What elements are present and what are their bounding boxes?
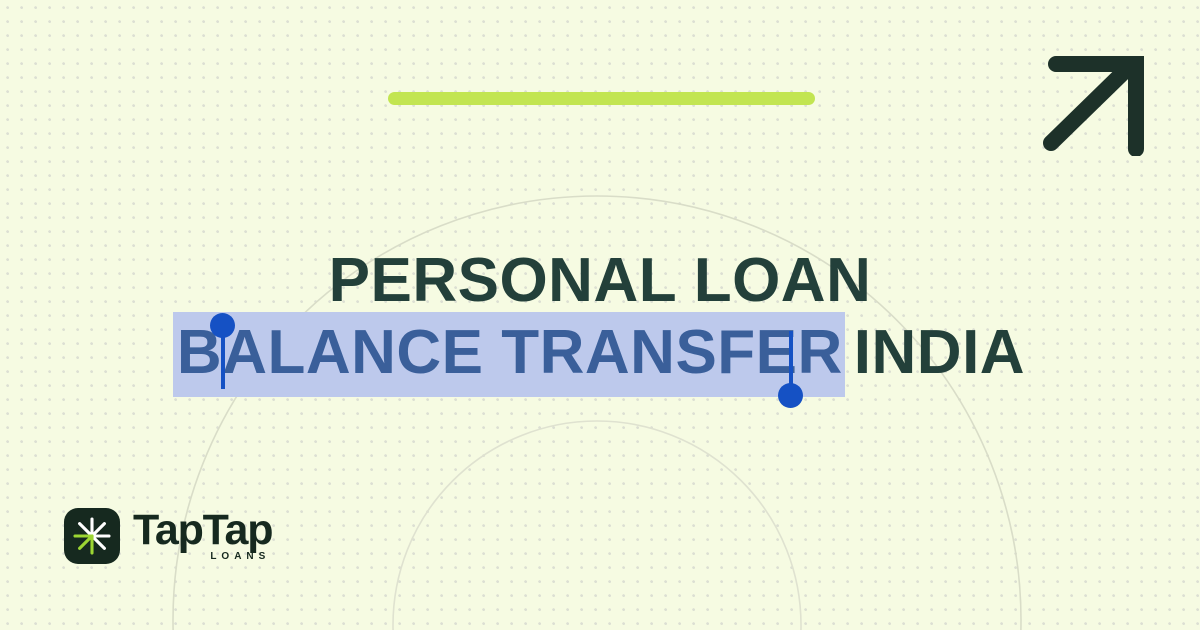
logo-subtext: LOANS: [210, 552, 270, 562]
headline-line-1: PERSONAL LOAN: [0, 250, 1200, 312]
green-accent-bar: [388, 92, 815, 105]
logo-wordmark: TapTap: [133, 510, 272, 551]
headline-block: PERSONAL LOAN BALANCE TRANSFERINDIA: [0, 250, 1200, 384]
highlighted-phrase[interactable]: BALANCE TRANSFER: [173, 312, 845, 397]
taptap-starburst-mark: [64, 508, 120, 564]
selection-end-handle-bar[interactable]: [789, 331, 793, 387]
selection-start-handle-knob[interactable]: [210, 313, 235, 338]
headline-line-2-tail: INDIA: [845, 318, 1025, 387]
headline-line-2: BALANCE TRANSFERINDIA: [0, 322, 1200, 384]
logo-text-block: TapTap LOANS: [133, 510, 272, 563]
banner-canvas: PERSONAL LOAN BALANCE TRANSFERINDIA: [0, 0, 1200, 630]
selection-end-handle-knob[interactable]: [778, 383, 803, 408]
taptap-loans-logo[interactable]: TapTap LOANS: [64, 508, 272, 564]
starburst-icon: [72, 516, 112, 556]
selection-start-handle-bar[interactable]: [221, 333, 225, 389]
arrow-up-right-icon[interactable]: [1038, 52, 1150, 156]
